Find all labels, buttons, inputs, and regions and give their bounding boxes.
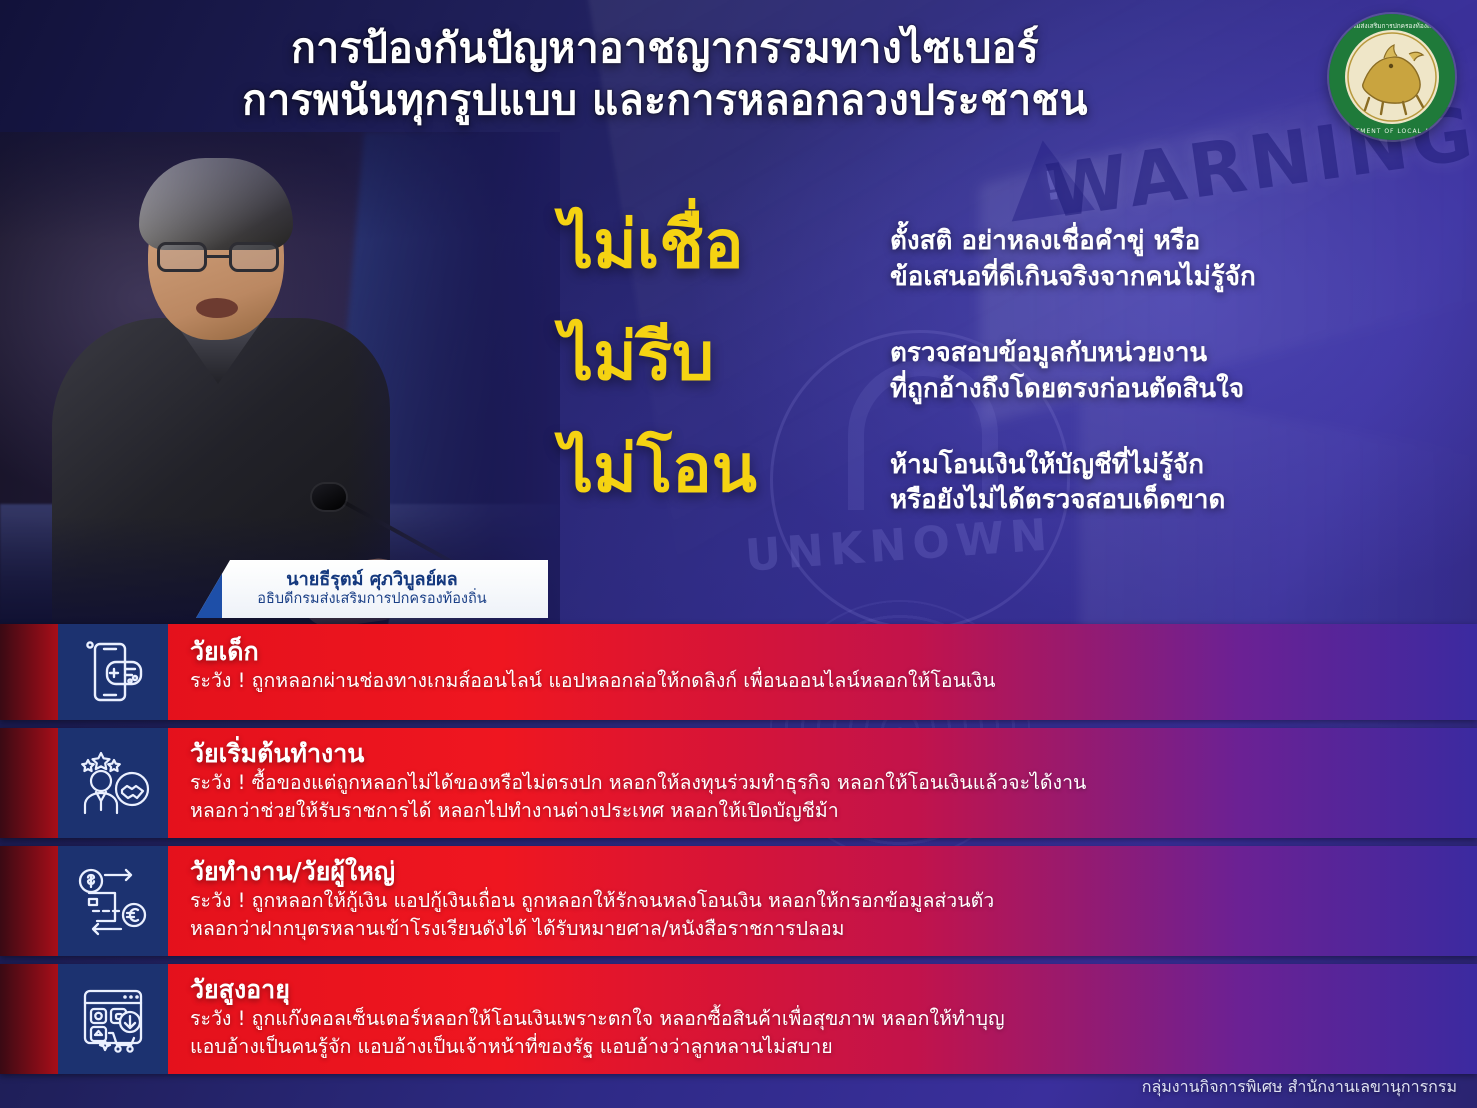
unknown-watermark-text: UNKNOWN bbox=[744, 509, 1055, 581]
speaker-glasses bbox=[157, 242, 279, 272]
slogan-description-line: หรือยังไม่ได้ตรวจสอบเด็ดขาด bbox=[890, 483, 1225, 519]
slogan-description: ห้ามโอนเงินให้บัญชีที่ไม่รู้จัก หรือยังไ… bbox=[890, 436, 1225, 520]
speaker-mouth bbox=[196, 298, 238, 318]
band-left-edge bbox=[0, 846, 58, 956]
slogan-item: ไม่เชื่อ ตั้งสติ อย่าหลงเชื่อคำขู่ หรือ … bbox=[560, 212, 1256, 296]
infographic-poster: WARNING UNKNOWN การป้องกันปัญหาอาชญากรรม… bbox=[0, 0, 1477, 1108]
mobile-gamepad-glyph bbox=[77, 636, 149, 708]
age-group-row: วัยเริ่มต้นทำงาน ระวัง ! ซื้อของแต่ถูกหล… bbox=[0, 728, 1477, 838]
slogan-keyword: ไม่เชื่อ bbox=[560, 212, 890, 278]
age-group-title: วัยเริ่มต้นทำงาน bbox=[190, 738, 1457, 769]
businessperson-handshake-glyph bbox=[75, 745, 151, 821]
mobile-gamepad-icon bbox=[58, 624, 168, 720]
band-content: วัยสูงอายุ ระวัง ! ถูกแก๊งคอลเซ็นเตอร์หล… bbox=[168, 964, 1477, 1074]
slogan-description-line: ตั้งสติ อย่าหลงเชื่อคำขู่ หรือ bbox=[890, 224, 1256, 260]
footer-credit: กลุ่มงานกิจการพิเศษ สำนักงานเลขานุการกรม bbox=[1142, 1075, 1457, 1100]
slogan-description-line: ตรวจสอบข้อมูลกับหน่วยงาน bbox=[890, 336, 1244, 372]
band-content: วัยทำงาน/วัยผู้ใหญ่ ระวัง ! ถูกหลอกให้กู… bbox=[168, 846, 1477, 956]
slogan-list: ไม่เชื่อ ตั้งสติ อย่าหลงเชื่อคำขู่ หรือ … bbox=[560, 212, 1256, 519]
age-group-line: ระวัง ! ถูกแก๊งคอลเซ็นเตอร์หลอกให้โอนเงิ… bbox=[190, 1005, 1457, 1033]
slogan-description-line: ห้ามโอนเงินให้บัญชีที่ไม่รู้จัก bbox=[890, 448, 1225, 484]
svg-text:DEPARTMENT OF LOCAL ADMIN.: DEPARTMENT OF LOCAL ADMIN. bbox=[1331, 128, 1453, 135]
age-group-title: วัยสูงอายุ bbox=[190, 974, 1457, 1005]
department-seal-icon: กรมส่งเสริมการปกครองท้องถิ่น DEPARTMENT … bbox=[1329, 14, 1455, 140]
page-title: การป้องกันปัญหาอาชญากรรมทางไซเบอร์ การพน… bbox=[0, 22, 1330, 127]
age-group-row: วัยเด็ก ระวัง ! ถูกหลอกผ่านช่องทางเกมส์อ… bbox=[0, 624, 1477, 720]
band-left-edge bbox=[0, 728, 58, 838]
speaker-name: นายธีรุตม์ ศุภวิบูลย์ผล bbox=[286, 570, 457, 590]
slogan-description-line: ที่ถูกอ้างถึงโดยตรงก่อนตัดสินใจ bbox=[890, 372, 1244, 408]
age-group-row: วัยสูงอายุ ระวัง ! ถูกแก๊งคอลเซ็นเตอร์หล… bbox=[0, 964, 1477, 1074]
businessperson-handshake-icon bbox=[58, 728, 168, 838]
age-group-line: ระวัง ! ซื้อของแต่ถูกหลอกไม่ได้ของหรือไม… bbox=[190, 769, 1457, 797]
slogan-description-line: ข้อเสนอที่ดีเกินจริงจากคนไม่รู้จัก bbox=[890, 260, 1256, 296]
slogan-keyword: ไม่รีบ bbox=[560, 324, 890, 390]
band-content: วัยเริ่มต้นทำงาน ระวัง ! ซื้อของแต่ถูกหล… bbox=[168, 728, 1477, 838]
slogan-item: ไม่โอน ห้ามโอนเงินให้บัญชีที่ไม่รู้จัก ห… bbox=[560, 436, 1256, 520]
money-transfer-icon bbox=[58, 846, 168, 956]
speaker-photo bbox=[0, 132, 560, 624]
slogan-keyword: ไม่โอน bbox=[560, 436, 890, 502]
band-left-edge bbox=[0, 964, 58, 1074]
money-transfer-glyph bbox=[75, 863, 151, 939]
age-group-line: ระวัง ! ถูกหลอกผ่านช่องทางเกมส์ออนไลน์ แ… bbox=[190, 667, 1457, 695]
online-shopping-glyph bbox=[75, 981, 151, 1057]
age-group-line: หลอกว่าฝากบุตรหลานเข้าโรงเรียนดังได้ ได้… bbox=[190, 915, 1457, 943]
speaker-nameplate: นายธีรุตม์ ศุภวิบูลย์ผล อธิบดีกรมส่งเสริ… bbox=[196, 560, 548, 618]
age-group-line: แอบอ้างเป็นคนรู้จัก แอบอ้างเป็นเจ้าหน้าท… bbox=[190, 1033, 1457, 1061]
slogan-description: ตั้งสติ อย่าหลงเชื่อคำขู่ หรือ ข้อเสนอที… bbox=[890, 212, 1256, 296]
speaker-role: อธิบดีกรมส่งเสริมการปกครองท้องถิ่น bbox=[257, 590, 486, 608]
online-shopping-icon bbox=[58, 964, 168, 1074]
slogan-description: ตรวจสอบข้อมูลกับหน่วยงาน ที่ถูกอ้างถึงโด… bbox=[890, 324, 1244, 408]
warning-triangle-icon bbox=[1001, 135, 1095, 222]
age-group-title: วัยเด็ก bbox=[190, 636, 1457, 667]
band-content: วัยเด็ก ระวัง ! ถูกหลอกผ่านช่องทางเกมส์อ… bbox=[168, 624, 1477, 720]
age-group-title: วัยทำงาน/วัยผู้ใหญ่ bbox=[190, 856, 1457, 887]
age-group-list: วัยเด็ก ระวัง ! ถูกหลอกผ่านช่องทางเกมส์อ… bbox=[0, 624, 1477, 1082]
age-group-row: วัยทำงาน/วัยผู้ใหญ่ ระวัง ! ถูกหลอกให้กู… bbox=[0, 846, 1477, 956]
title-line-2: การพนันทุกรูปแบบ และการหลอกลวงประชาชน bbox=[0, 74, 1330, 126]
microphone-icon bbox=[312, 484, 346, 510]
title-line-1: การป้องกันปัญหาอาชญากรรมทางไซเบอร์ bbox=[0, 22, 1330, 74]
age-group-line: หลอกว่าช่วยให้รับราชการได้ หลอกไปทำงานต่… bbox=[190, 797, 1457, 825]
svg-text:กรมส่งเสริมการปกครองท้องถิ่น: กรมส่งเสริมการปกครองท้องถิ่น bbox=[1349, 21, 1436, 30]
band-left-edge bbox=[0, 624, 58, 720]
slogan-item: ไม่รีบ ตรวจสอบข้อมูลกับหน่วยงาน ที่ถูกอ้… bbox=[560, 324, 1256, 408]
age-group-line: ระวัง ! ถูกหลอกให้กู้เงิน แอปกู้เงินเถื่… bbox=[190, 887, 1457, 915]
